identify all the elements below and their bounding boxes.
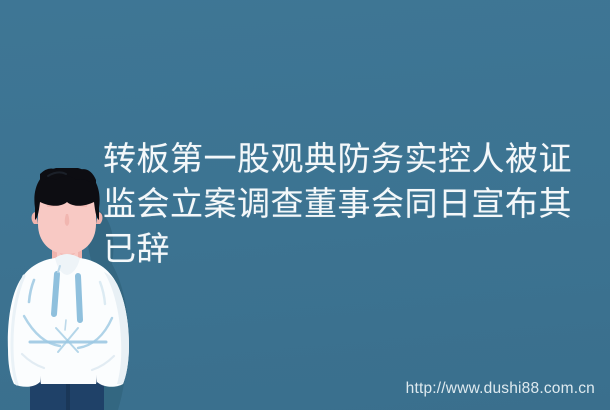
watermark-url: http://www.dushi88.com.cn [406, 380, 595, 398]
headline-text: 转板第一股观典防务实控人被证监会立案调查董事会同日宣布其已辞 [103, 136, 595, 271]
news-cover-canvas: 转板第一股观典防务实控人被证监会立案调查董事会同日宣布其已辞 http://ww… [0, 0, 610, 410]
